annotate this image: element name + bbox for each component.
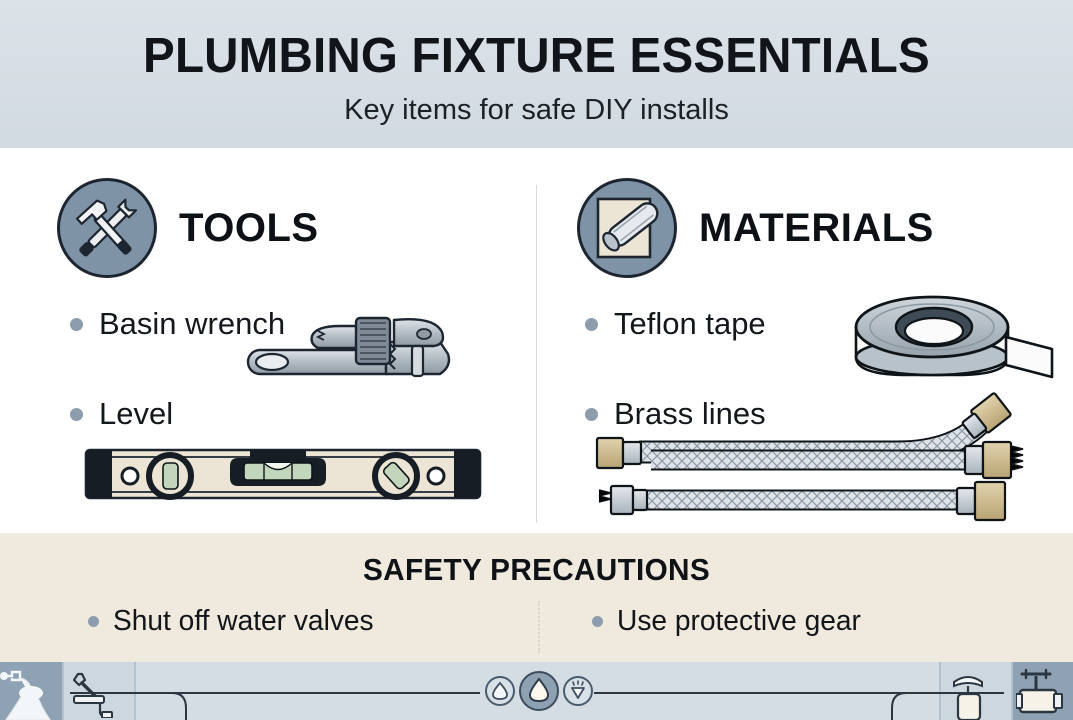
infographic-root: PLUMBING FIXTURE ESSENTIALS Key items fo… [0, 0, 1073, 720]
footer-pipe-line [594, 692, 1004, 694]
bullet-icon [70, 408, 83, 421]
safety-band: SAFETY PRECAUTIONS Shut off water valves… [0, 533, 1073, 662]
water-splash-icon [563, 676, 593, 706]
shutoff-valve-icon [1016, 668, 1072, 720]
footer-separator [62, 662, 64, 720]
page-subtitle: Key items for safe DIY installs [0, 90, 1073, 130]
safety-section-title: SAFETY PRECAUTIONS [21, 552, 1051, 588]
list-item: Level [70, 396, 173, 432]
page-title: PLUMBING FIXTURE ESSENTIALS [16, 26, 1057, 86]
water-heater-icon [948, 668, 1004, 720]
footer-pipe-line [70, 692, 480, 694]
braided-supply-lines-illustration [567, 386, 1073, 531]
footer-separator [134, 662, 136, 720]
tools-section-header: TOOLS [57, 178, 319, 278]
faucet-wrench-icon [70, 670, 128, 718]
bullet-icon [592, 616, 603, 627]
pipe-elbow-right [880, 692, 940, 720]
water-drop-filled-icon [519, 671, 559, 711]
spirit-level-illustration [78, 438, 488, 515]
materials-section-title: MATERIALS [699, 206, 934, 251]
section-tools: TOOLS Basin wrench [0, 148, 536, 533]
sink-basin-icon [0, 666, 60, 720]
section-materials: MATERIALS Teflon tape [537, 148, 1073, 533]
safety-item-label: Use protective gear [617, 605, 861, 638]
sheet-and-pipe-icon [577, 178, 677, 278]
list-item: Teflon tape [585, 306, 766, 342]
tools-section-title: TOOLS [179, 206, 319, 251]
footer-decorative-band [0, 662, 1073, 720]
water-drop-outline-icon [485, 676, 515, 706]
pipe-elbow-left [138, 692, 198, 720]
hammer-wrench-icon [57, 178, 157, 278]
bullet-icon [88, 616, 99, 627]
bullet-icon [70, 318, 83, 331]
tape-roll-illustration [840, 281, 1065, 391]
materials-section-header: MATERIALS [577, 178, 934, 278]
safety-items-list: Shut off water valves Use protective gea… [0, 605, 1073, 653]
safety-items-divider [538, 601, 541, 653]
safety-item-label: Shut off water valves [113, 605, 374, 638]
list-item-label: Level [99, 396, 173, 432]
safety-item: Use protective gear [592, 605, 868, 638]
bullet-icon [585, 318, 598, 331]
header-band: PLUMBING FIXTURE ESSENTIALS Key items fo… [0, 0, 1073, 148]
list-item-label: Teflon tape [614, 306, 766, 342]
footer-separator [1011, 662, 1013, 720]
safety-item: Shut off water valves [88, 605, 382, 638]
pipe-wrench-illustration [190, 298, 460, 393]
